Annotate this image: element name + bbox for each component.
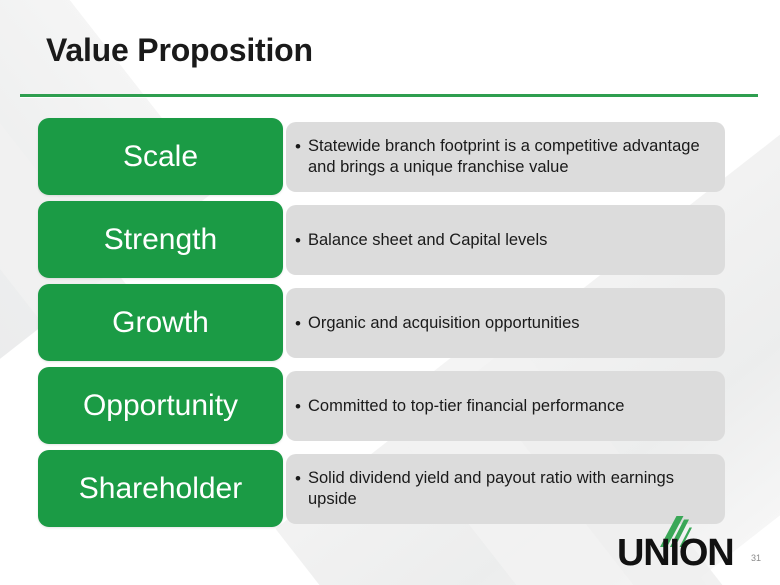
row-label-box[interactable]: Shareholder: [38, 450, 283, 527]
row-bullet-box: •Statewide branch footprint is a competi…: [286, 122, 725, 192]
bullet-point-icon: •: [295, 230, 308, 251]
row-label-box[interactable]: Opportunity: [38, 367, 283, 444]
row-label-box[interactable]: Scale: [38, 118, 283, 195]
row-label-box[interactable]: Strength: [38, 201, 283, 278]
bullet-point-icon: •: [295, 136, 308, 157]
union-logo: UNION: [617, 516, 752, 572]
bullet-point-icon: •: [295, 396, 308, 417]
bullet-row: •Balance sheet and Capital levels: [286, 230, 725, 251]
bullet-text: Balance sheet and Capital levels: [308, 230, 713, 251]
bullet-row: •Committed to top-tier financial perform…: [286, 396, 725, 417]
page-number: 31: [751, 553, 761, 563]
value-proposition-row: Strength•Balance sheet and Capital level…: [0, 201, 780, 278]
value-proposition-row: Growth•Organic and acquisition opportuni…: [0, 284, 780, 361]
bullet-point-icon: •: [295, 468, 308, 489]
row-bullet-box: •Balance sheet and Capital levels: [286, 205, 725, 275]
row-label-text: Strength: [104, 225, 217, 255]
row-label-text: Opportunity: [83, 391, 238, 421]
row-label-box[interactable]: Growth: [38, 284, 283, 361]
bullet-row: •Organic and acquisition opportunities: [286, 313, 725, 334]
bullet-row: •Solid dividend yield and payout ratio w…: [286, 468, 725, 510]
row-label-text: Scale: [123, 142, 198, 172]
value-proposition-row-list: Scale•Statewide branch footprint is a co…: [0, 0, 780, 585]
row-label-text: Shareholder: [79, 474, 242, 504]
row-bullet-box: •Organic and acquisition opportunities: [286, 288, 725, 358]
bullet-point-icon: •: [295, 313, 308, 334]
bullet-text: Statewide branch footprint is a competit…: [308, 136, 713, 178]
value-proposition-row: Scale•Statewide branch footprint is a co…: [0, 118, 780, 195]
row-bullet-box: •Solid dividend yield and payout ratio w…: [286, 454, 725, 524]
row-label-text: Growth: [112, 308, 209, 338]
bullet-text: Committed to top-tier financial performa…: [308, 396, 713, 417]
union-wordmark: UNION: [617, 534, 733, 572]
bullet-text: Organic and acquisition opportunities: [308, 313, 713, 334]
slide-canvas: Value Proposition Scale•Statewide branch…: [0, 0, 780, 585]
row-bullet-box: •Committed to top-tier financial perform…: [286, 371, 725, 441]
value-proposition-row: Opportunity•Committed to top-tier financ…: [0, 367, 780, 444]
bullet-row: •Statewide branch footprint is a competi…: [286, 136, 725, 178]
bullet-text: Solid dividend yield and payout ratio wi…: [308, 468, 713, 510]
